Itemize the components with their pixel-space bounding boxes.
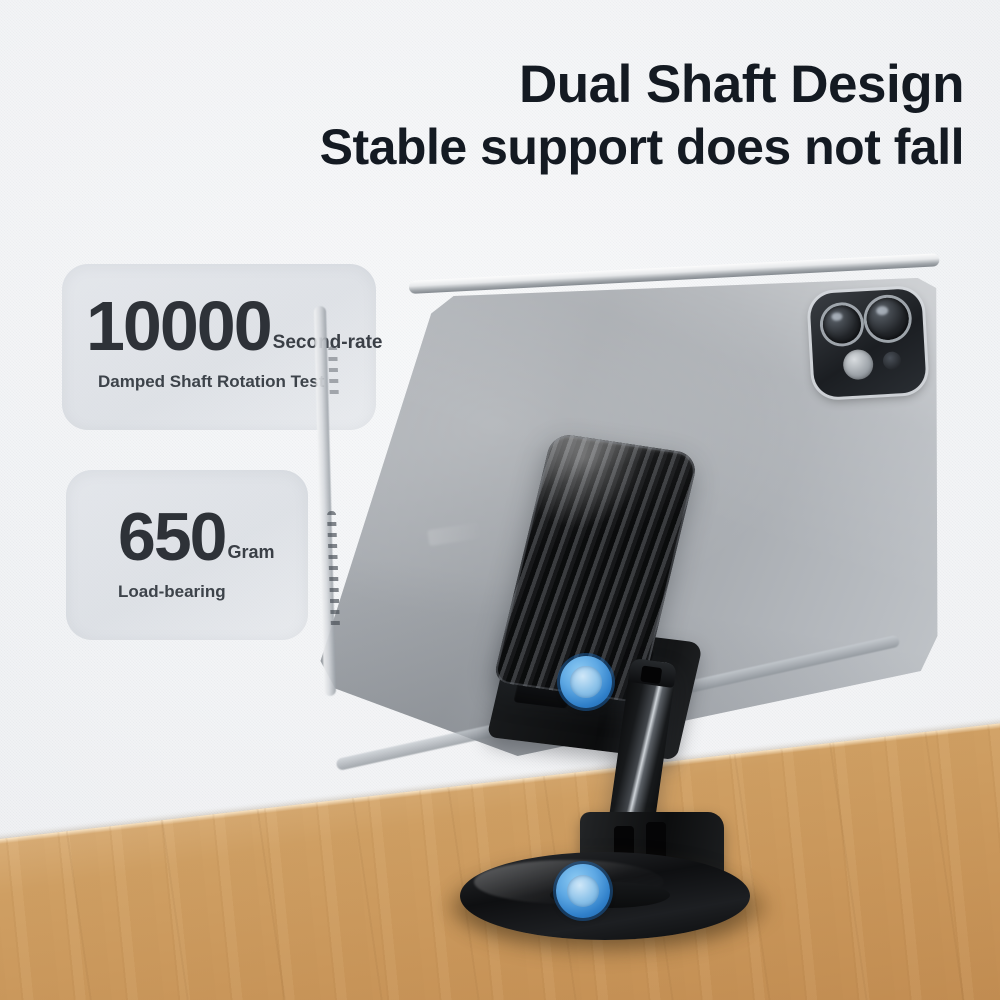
arm-vent-hole — [640, 665, 662, 684]
lens-glint — [876, 305, 888, 315]
camera-lens-icon — [866, 297, 910, 341]
stat-value-row: 650 Gram — [118, 498, 275, 576]
dual-lens-camera-module — [809, 288, 927, 398]
headline-line-2: Stable support does not fall — [264, 122, 964, 173]
camera-flash-icon — [842, 349, 874, 381]
stat-value: 650 — [118, 498, 225, 576]
lens-glint — [831, 312, 842, 321]
camera-lens-icon — [822, 304, 862, 344]
product-marketing-image: Dual Shaft Design Stable support does no… — [0, 0, 1000, 1000]
stat-caption: Damped Shaft Rotation Test — [98, 372, 324, 392]
hinge-core — [567, 875, 599, 907]
speaker-grille-icon — [328, 346, 339, 400]
stat-caption: Load-bearing — [118, 582, 226, 602]
lidar-sensor-icon — [883, 351, 902, 370]
lower-damped-shaft-hinge — [556, 864, 610, 918]
stat-value: 10000 — [86, 286, 271, 366]
tablet-stand — [430, 420, 850, 980]
page-title: Dual Shaft Design Stable support does no… — [264, 58, 964, 173]
stat-unit: Gram — [227, 542, 274, 563]
upper-damped-shaft-hinge — [560, 656, 612, 708]
hinge-core — [570, 666, 601, 697]
headline-line-1: Dual Shaft Design — [264, 58, 964, 112]
stat-badge-load-bearing: 650 Gram Load-bearing — [66, 470, 308, 640]
